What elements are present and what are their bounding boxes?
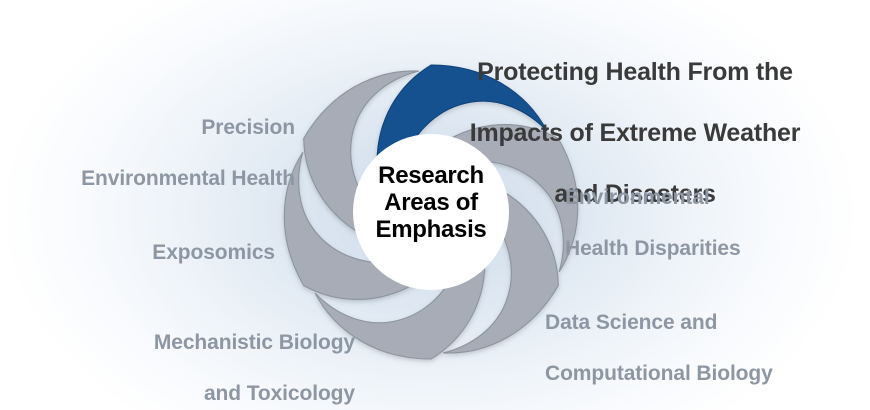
label-exposomics: Exposomics	[60, 215, 275, 291]
label-line: Environmental Health	[20, 166, 295, 191]
label-line: Data Science and	[545, 310, 815, 335]
label-environmental-health-disparities: Environmental Health Disparities	[565, 160, 815, 286]
infographic-canvas: Research Areas of Emphasis Protecting He…	[0, 0, 870, 410]
label-line: and Toxicology	[70, 381, 355, 406]
label-line: Computational Biology	[545, 361, 815, 386]
label-line: Precision	[20, 115, 295, 140]
label-line: Exposomics	[60, 240, 275, 265]
label-precision-environmental-health: Precision Environmental Health	[20, 90, 295, 216]
label-data-science-computational-biology: Data Science and Computational Biology	[545, 285, 815, 410]
label-line: Mechanistic Biology	[70, 330, 355, 355]
label-line: Environmental	[565, 185, 815, 210]
label-line: Impacts of Extreme Weather	[430, 118, 840, 149]
label-line: Protecting Health From the	[430, 57, 840, 88]
label-line: Health Disparities	[565, 236, 815, 261]
label-mechanistic-biology-toxicology: Mechanistic Biology and Toxicology	[70, 305, 355, 410]
